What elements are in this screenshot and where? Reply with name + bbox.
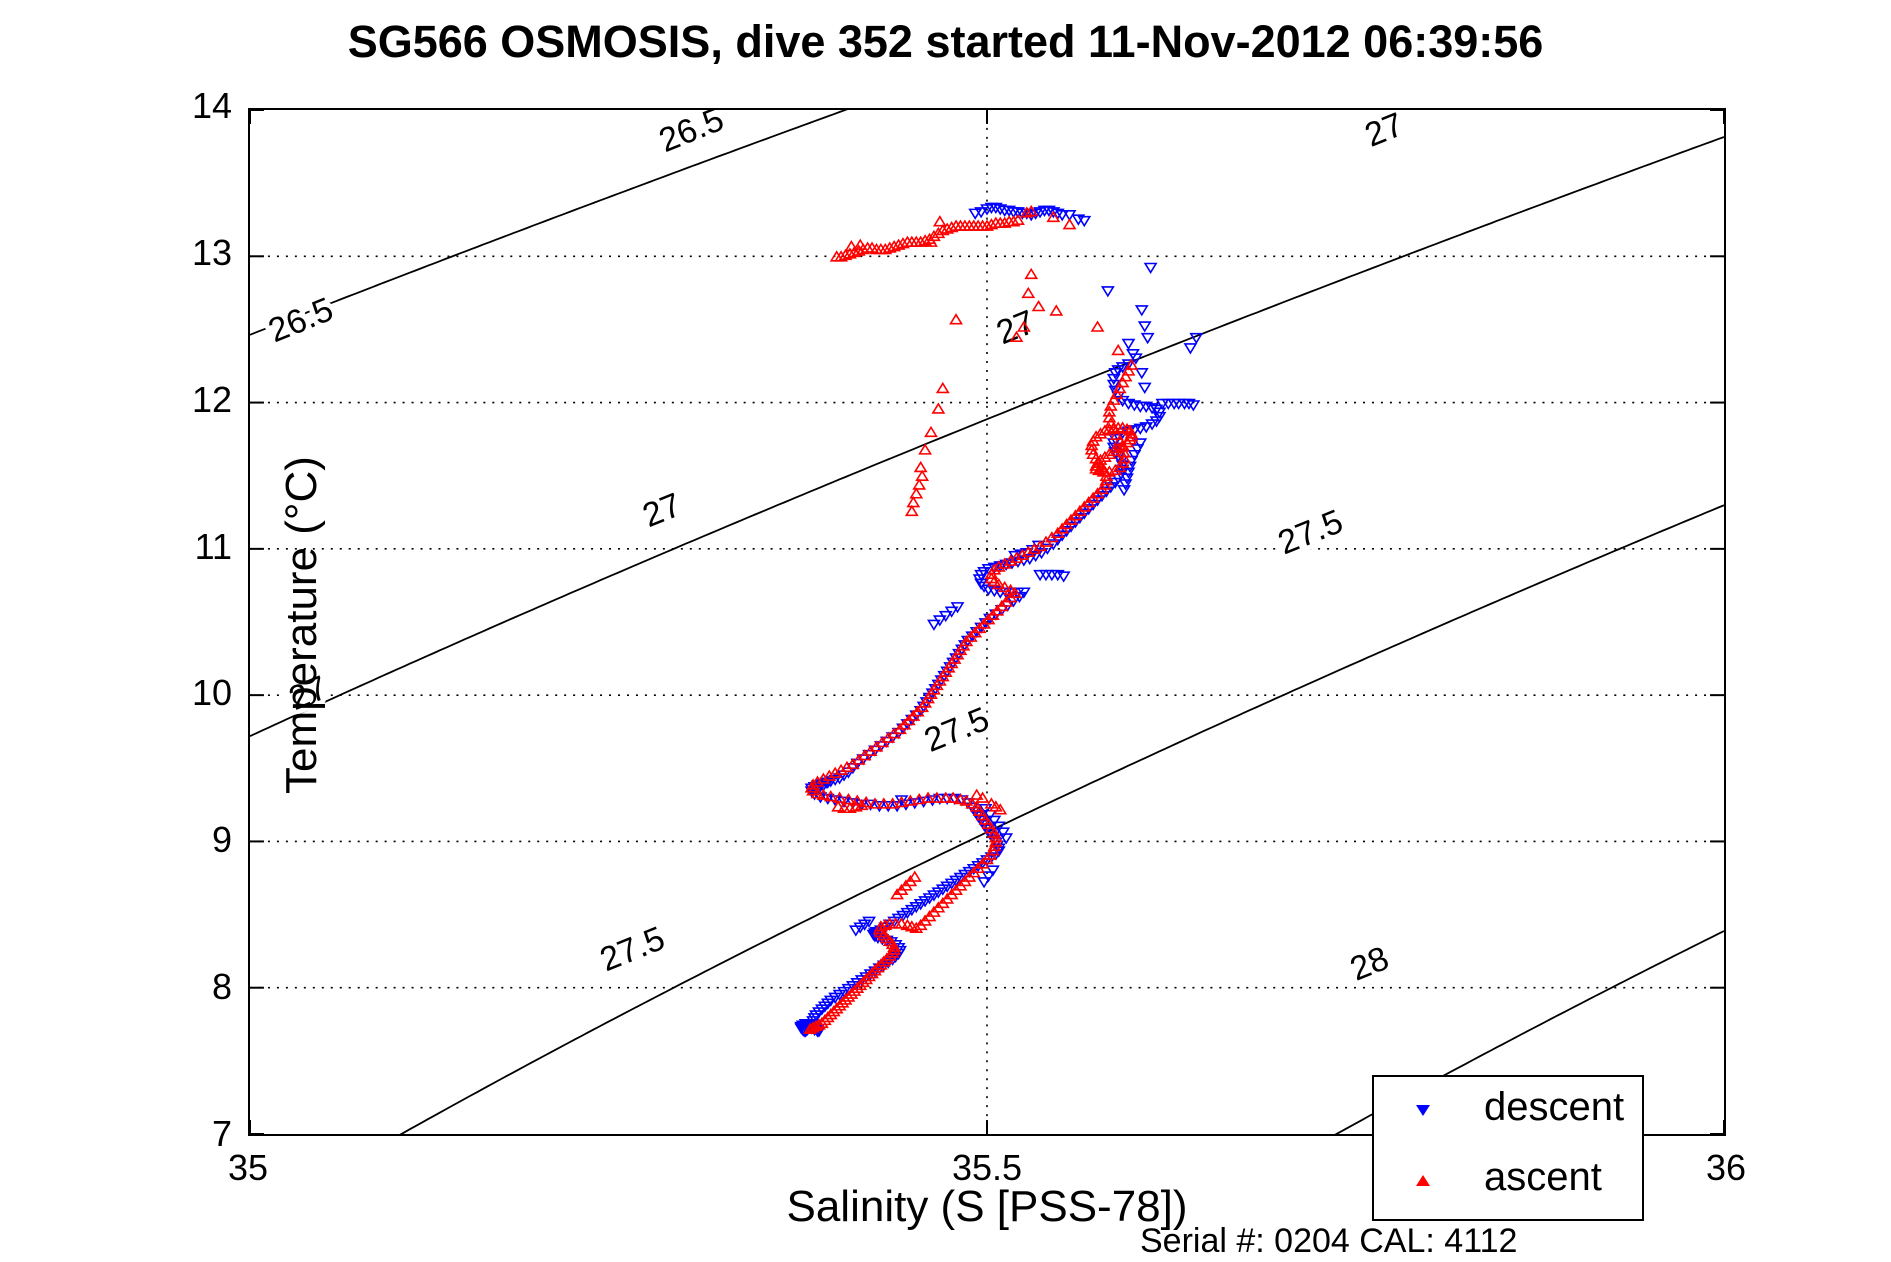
svg-text:26.5: 26.5 <box>654 110 729 160</box>
y-tick-label: 9 <box>172 822 232 858</box>
svg-text:28: 28 <box>1345 939 1394 988</box>
svg-text:27.5: 27.5 <box>1273 502 1348 562</box>
plot-area: 26.526.526.526.5272727272727272727.527.5… <box>248 108 1726 1136</box>
legend-label-ascent: ascent <box>1484 1155 1602 1200</box>
x-tick-label: 35 <box>168 1150 328 1186</box>
figure-canvas: SG566 OSMOSIS, dive 352 started 11-Nov-2… <box>0 0 1891 1262</box>
triangle-up-icon <box>1416 1175 1430 1186</box>
plot-svg: 26.526.526.526.5272727272727272727.527.5… <box>250 110 1724 1134</box>
series-ascent <box>805 206 1137 1033</box>
gridlines <box>250 110 1724 1134</box>
footer-serial-cal: Serial #: 0204 CAL: 4112 <box>1140 1222 1517 1261</box>
y-tick-label: 12 <box>172 382 232 418</box>
y-tick-label: 10 <box>172 675 232 711</box>
contour-labels: 26.526.526.526.5272727272727272727.527.5… <box>263 110 1409 989</box>
svg-text:26.5: 26.5 <box>263 290 338 350</box>
x-tick-label: 36 <box>1646 1150 1806 1186</box>
svg-text:27: 27 <box>1360 110 1409 155</box>
y-axis-label: Temperature (°C) <box>277 345 327 905</box>
svg-text:27.5: 27.5 <box>595 919 670 979</box>
y-tick-label: 11 <box>172 529 232 565</box>
page-title: SG566 OSMOSIS, dive 352 started 11-Nov-2… <box>0 16 1891 68</box>
svg-text:27: 27 <box>637 486 686 535</box>
y-tick-label: 8 <box>172 969 232 1005</box>
legend-item-ascent[interactable]: ascent <box>1374 1153 1646 1213</box>
y-tick-label: 14 <box>172 88 232 124</box>
triangle-down-icon <box>1416 1105 1430 1116</box>
legend-label-descent: descent <box>1484 1085 1624 1130</box>
x-tick-label: 35.5 <box>907 1150 1067 1186</box>
y-tick-label: 13 <box>172 235 232 271</box>
y-tick-label: 7 <box>172 1116 232 1152</box>
legend-item-descent[interactable]: descent <box>1374 1083 1646 1143</box>
svg-text:27.5: 27.5 <box>919 700 994 760</box>
legend-box[interactable]: descent ascent <box>1372 1075 1644 1221</box>
